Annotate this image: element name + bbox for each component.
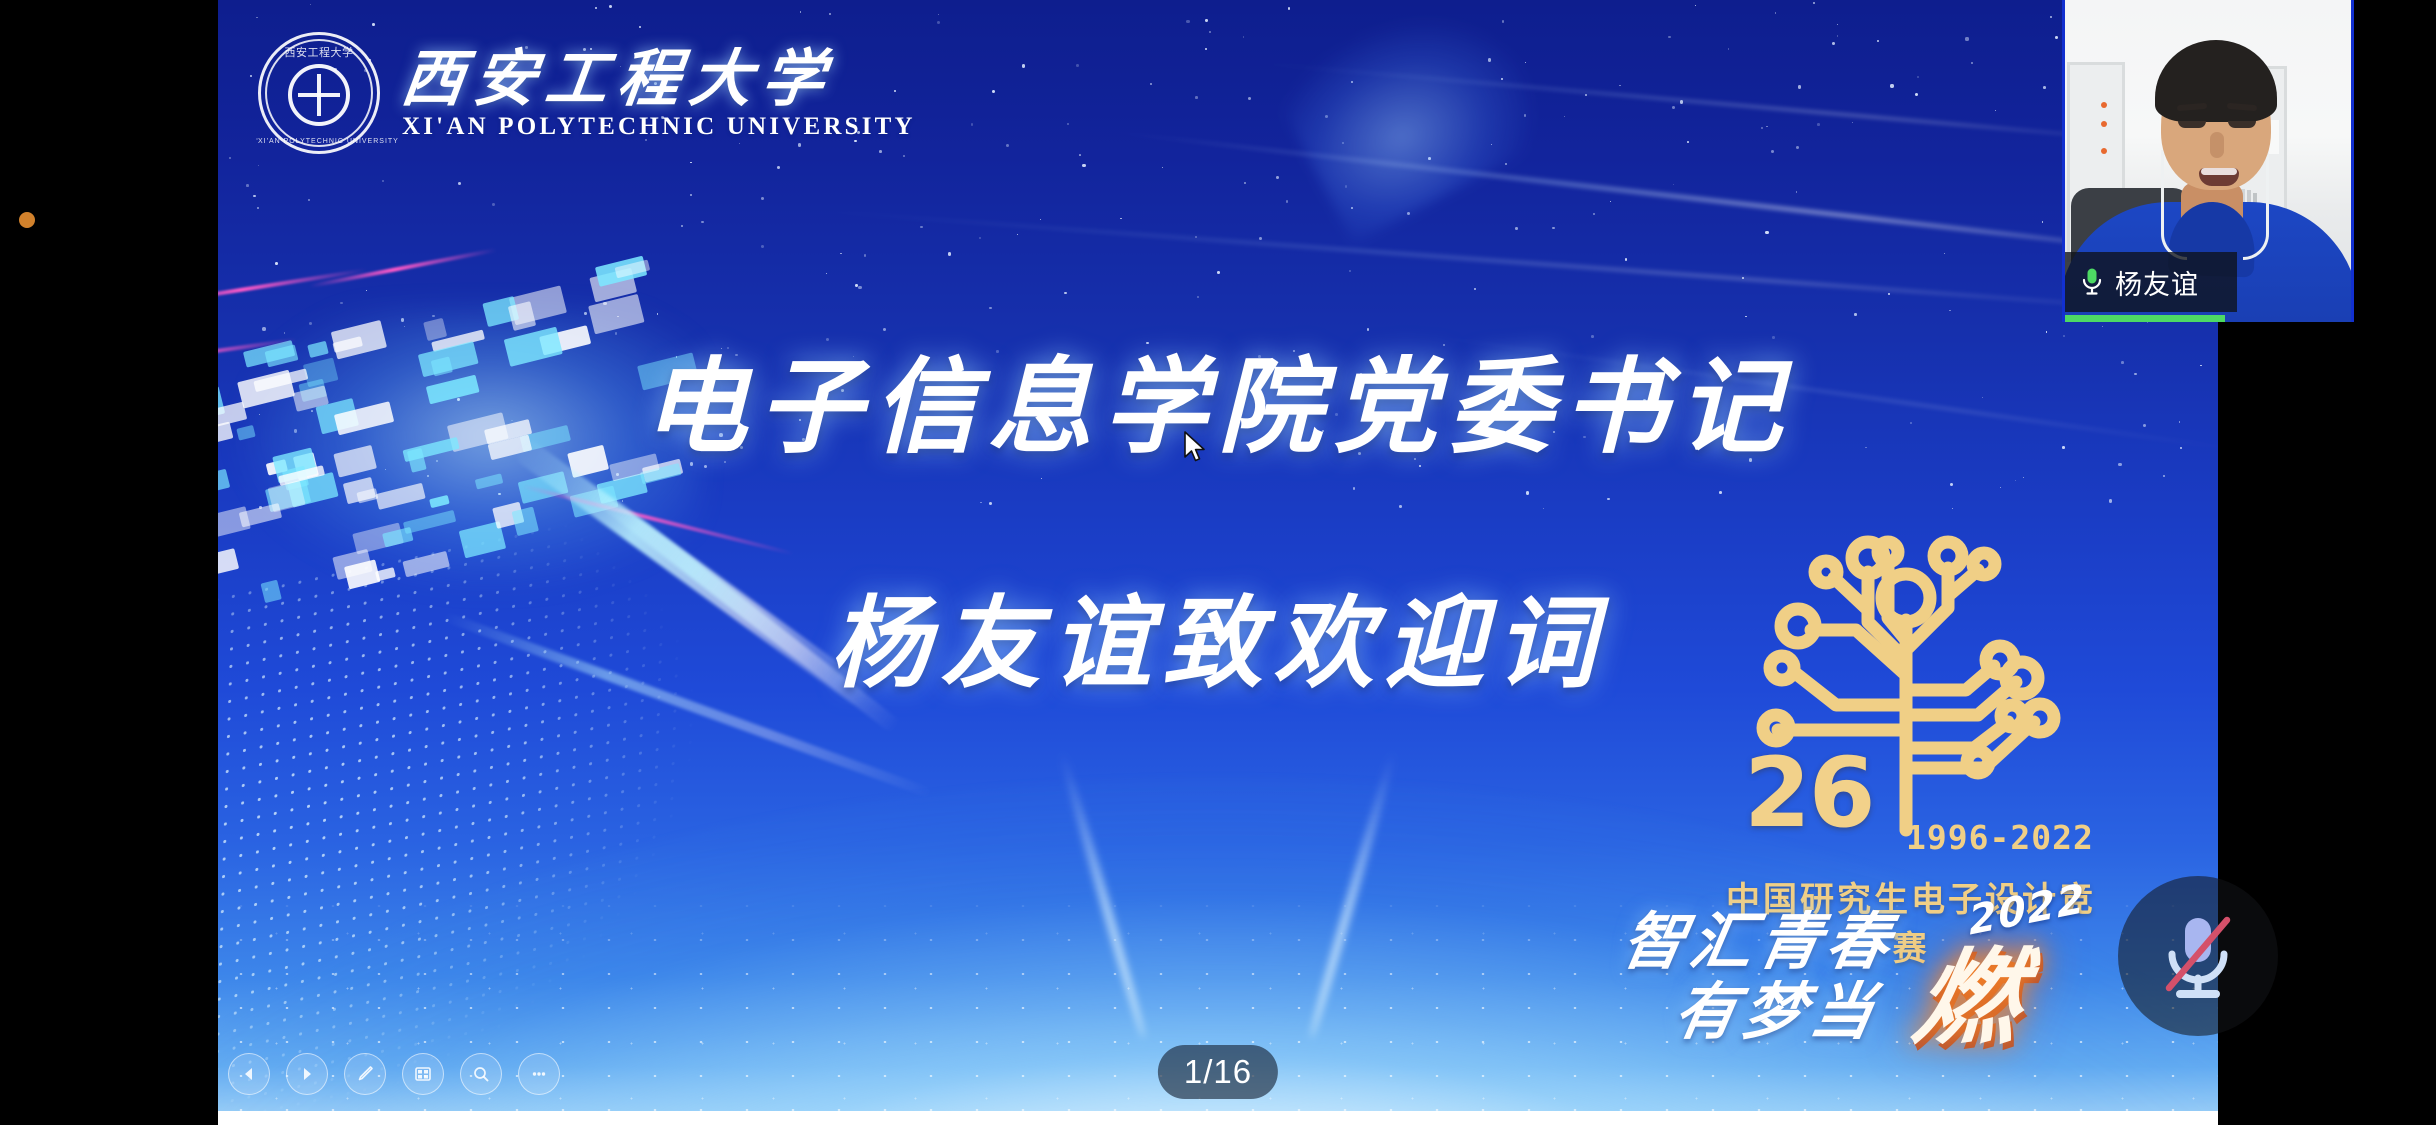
star	[1186, 20, 1189, 23]
star	[1286, 200, 1289, 203]
star	[1890, 84, 1893, 87]
star	[458, 182, 461, 185]
star	[1687, 141, 1689, 143]
star	[1525, 62, 1526, 63]
star	[1950, 483, 1953, 486]
shelf-dot	[2101, 148, 2107, 154]
star	[937, 21, 940, 24]
star	[595, 7, 597, 9]
grid-slides-icon	[413, 1064, 433, 1084]
star	[948, 252, 951, 255]
triangle-right-icon	[299, 1066, 315, 1082]
star	[1917, 76, 1919, 78]
star	[1209, 31, 1212, 34]
star	[1259, 237, 1262, 240]
star	[1672, 106, 1675, 109]
star	[1775, 12, 1776, 13]
star	[1564, 116, 1565, 117]
star	[1243, 36, 1245, 38]
shared-slide-stage[interactable]: 西安工程大学 XI'AN POLYTECHNIC UNIVERSITY 西安工程…	[218, 0, 2218, 1111]
star	[1915, 93, 1918, 96]
star	[1888, 293, 1890, 295]
slide-grid-button[interactable]	[402, 1053, 444, 1095]
star	[2163, 475, 2165, 477]
star	[1832, 42, 1835, 45]
star	[1995, 110, 1996, 111]
star	[275, 262, 278, 265]
emblem-top-text: 西安工程大学	[258, 44, 380, 60]
pixel-block	[511, 506, 539, 536]
star	[1852, 122, 1853, 123]
more-options-button[interactable]	[518, 1053, 560, 1095]
slide-background: 西安工程大学 XI'AN POLYTECHNIC UNIVERSITY 西安工程…	[218, 0, 2218, 1111]
star	[257, 207, 259, 209]
star	[1761, 127, 1763, 129]
star	[1162, 167, 1163, 168]
nose	[2210, 132, 2224, 158]
star	[310, 4, 312, 6]
star	[1607, 498, 1609, 500]
star	[1205, 19, 1207, 21]
star	[256, 17, 257, 18]
star	[2043, 86, 2046, 89]
star	[1619, 85, 1621, 87]
star	[903, 155, 905, 157]
star	[1766, 126, 1767, 127]
star	[1120, 218, 1121, 219]
star	[2023, 477, 2024, 478]
slide-bottom-strip	[218, 1111, 2218, 1125]
star	[1837, 24, 1838, 25]
zoom-button[interactable]	[460, 1053, 502, 1095]
contest-anniversary: 26	[1744, 745, 1874, 841]
star	[1719, 491, 1722, 494]
star	[864, 254, 866, 256]
star	[1353, 487, 1356, 490]
star	[1625, 258, 1627, 260]
star	[1949, 310, 1950, 311]
mouse-cursor	[1183, 431, 1209, 465]
star	[1771, 150, 1774, 153]
star	[253, 195, 256, 198]
star	[1064, 292, 1067, 295]
star	[492, 203, 495, 206]
presentation-toolbar[interactable]	[228, 1053, 560, 1095]
star	[1006, 144, 1009, 147]
star	[1248, 97, 1251, 100]
star	[1067, 123, 1069, 125]
star	[1244, 182, 1246, 184]
star	[1944, 253, 1945, 254]
participant-video-tile[interactable]: 杨友谊	[2062, 0, 2354, 322]
star	[979, 237, 981, 239]
star	[826, 273, 827, 274]
eye	[2228, 121, 2256, 128]
star	[1745, 316, 1747, 318]
star	[1765, 231, 1768, 234]
star	[1076, 64, 1079, 67]
star	[1276, 176, 1279, 179]
pen-icon	[355, 1064, 375, 1084]
page-indicator[interactable]: 1/16	[1158, 1045, 1278, 1099]
star	[1610, 201, 1612, 203]
star	[1854, 313, 1856, 315]
contest-logo: 26 1996-2022 中国研究生电子设计竞赛	[1716, 500, 2106, 900]
star	[2050, 16, 2052, 18]
star	[1399, 505, 1402, 508]
star	[920, 226, 923, 229]
star	[992, 90, 995, 93]
star	[1971, 62, 1973, 64]
star	[1965, 37, 1968, 40]
magnifier-icon	[471, 1064, 491, 1084]
pixel-block	[429, 495, 450, 509]
star	[690, 194, 692, 196]
university-emblem-icon: 西安工程大学 XI'AN POLYTECHNIC UNIVERSITY	[258, 32, 380, 154]
pixel-block	[475, 473, 504, 490]
star	[1796, 146, 1799, 149]
star	[1079, 154, 1081, 156]
star	[1217, 271, 1220, 274]
star	[800, 11, 801, 12]
star	[1150, 83, 1152, 85]
star	[229, 157, 231, 159]
star	[761, 245, 764, 248]
slide-title: 电子信息学院党委书记	[218, 322, 2218, 473]
star	[1877, 40, 1879, 42]
star	[690, 162, 691, 163]
previous-slide-button[interactable]	[228, 1053, 270, 1095]
next-slide-button[interactable]	[286, 1053, 328, 1095]
star	[2042, 221, 2043, 222]
shelf-dot	[2101, 121, 2107, 127]
star	[609, 5, 612, 8]
star	[250, 75, 252, 77]
star	[1668, 36, 1670, 38]
star	[1082, 164, 1085, 167]
star	[1017, 234, 1018, 235]
star	[639, 26, 641, 28]
star	[1837, 35, 1839, 37]
teeth	[2201, 168, 2237, 175]
emblem-bottom-text: XI'AN POLYTECHNIC UNIVERSITY	[258, 138, 380, 145]
university-name-cn: 西安工程大学	[398, 48, 919, 110]
star	[1041, 478, 1042, 479]
shelf-dot	[2101, 102, 2107, 108]
star	[858, 286, 862, 290]
star	[1728, 48, 1729, 49]
star	[761, 197, 764, 200]
university-branding: 西安工程大学 XI'AN POLYTECHNIC UNIVERSITY 西安工程…	[258, 32, 916, 154]
star	[1817, 123, 1820, 126]
university-name-en: XI'AN POLYTECHNIC UNIVERSITY	[402, 114, 916, 139]
star	[2055, 36, 2058, 39]
star	[1695, 5, 1696, 6]
star	[2015, 480, 2016, 481]
participant-name: 杨友谊	[2115, 263, 2199, 302]
star	[1526, 491, 1529, 494]
star	[1552, 227, 1555, 230]
star	[2109, 499, 2113, 503]
participant-name-badge: 杨友谊	[2065, 252, 2237, 312]
star	[258, 165, 259, 166]
star	[1502, 20, 1504, 22]
triangle-left-icon	[241, 1066, 257, 1082]
star	[2000, 487, 2001, 488]
microphone-icon	[2081, 267, 2103, 297]
star	[777, 166, 781, 170]
star	[1813, 2, 1815, 4]
star	[246, 184, 249, 187]
star	[366, 290, 367, 291]
star	[1798, 85, 1801, 88]
star	[1796, 191, 1798, 193]
mute-toggle-button[interactable]	[2118, 876, 2278, 1036]
star	[1673, 184, 1674, 185]
star	[1022, 64, 1025, 67]
star	[382, 180, 384, 182]
audio-level-bar	[2065, 315, 2225, 322]
contest-years: 1996-2022	[1906, 818, 2094, 857]
pixel-block	[268, 480, 306, 512]
star	[1040, 219, 1041, 220]
star	[1543, 508, 1544, 509]
microphone-muted-icon	[2155, 910, 2241, 1002]
star	[701, 221, 704, 224]
gutter-status-dot	[19, 212, 35, 228]
star	[1515, 227, 1518, 230]
star	[681, 225, 684, 228]
star	[1505, 163, 1507, 165]
screen-root: 西安工程大学 XI'AN POLYTECHNIC UNIVERSITY 西安工程…	[0, 0, 2436, 1125]
star	[372, 23, 375, 26]
star	[1474, 288, 1476, 290]
eye	[2178, 121, 2206, 128]
star	[1593, 213, 1595, 215]
star	[1288, 7, 1291, 10]
slogan-line-2: 有梦当	[1668, 961, 1888, 1051]
annotate-button[interactable]	[344, 1053, 386, 1095]
ellipsis-icon	[529, 1064, 549, 1084]
star	[971, 123, 973, 125]
star	[1197, 296, 1199, 298]
pixel-block	[376, 483, 426, 509]
star	[1585, 94, 1586, 95]
star	[1205, 48, 1207, 50]
star	[938, 14, 939, 15]
star	[308, 199, 310, 201]
star	[829, 13, 832, 16]
slide-slogan: 智汇青春 有梦当 燃 2022	[1618, 885, 2178, 1055]
star	[1195, 96, 1198, 99]
star	[1349, 270, 1351, 272]
star	[840, 253, 841, 254]
